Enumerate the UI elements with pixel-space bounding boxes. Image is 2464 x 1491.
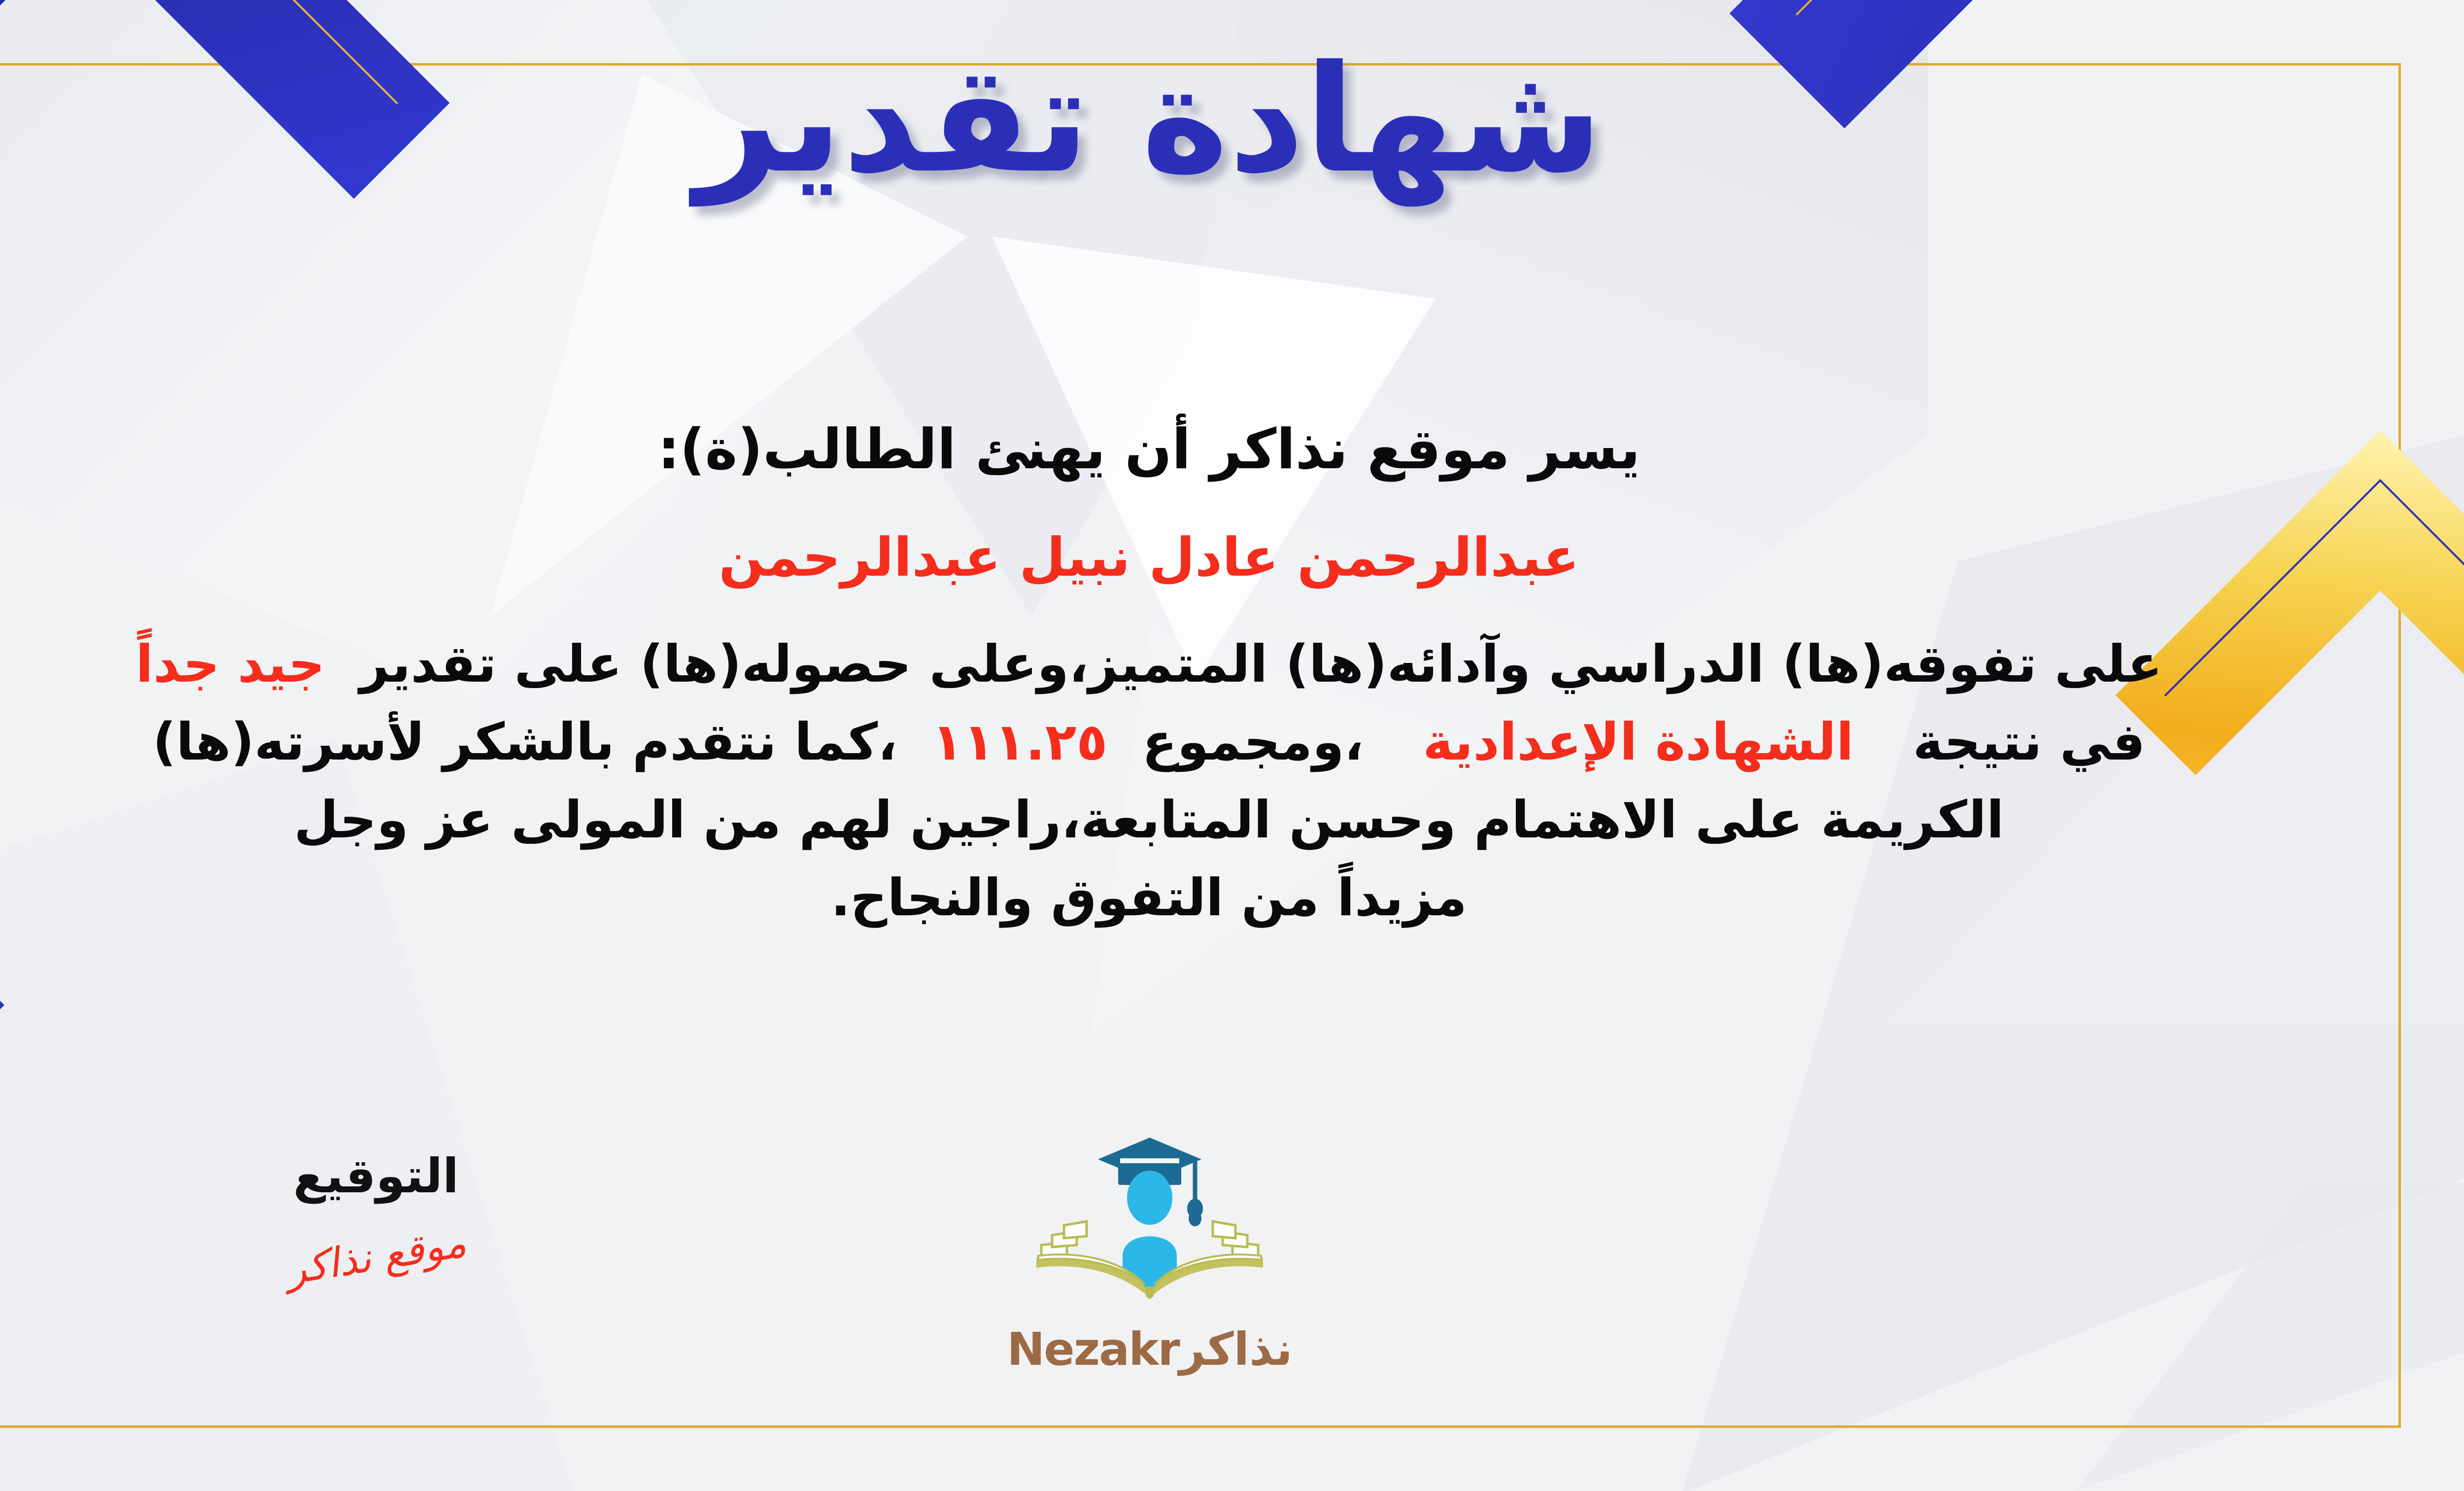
total-score: ١١١.٢٥ [932,712,1108,772]
signature-mark: موقع نذاكر [283,1219,469,1294]
logo-latin-name: Nezakr [1007,1323,1179,1376]
certificate-page: شهادة تقدير يسر موقع نذاكر أن يهنئ الطال… [0,0,2464,1491]
logo-arabic-name: نذاكر [1179,1323,1293,1376]
paragraph-line-1: على تفوقه(ها) الدراسي وآدائه(ها) المتميز… [0,625,2316,703]
student-name: عبدالرحمن عادل نبيل عبدالرحمن [0,519,2316,597]
certificate-content: شهادة تقدير يسر موقع نذاكر أن يهنئ الطال… [0,0,2464,1491]
paragraph-line-3: الكريمة على الاهتمام وحسن المتابعة،راجين… [0,781,2316,859]
logo-wordmark: Nezakrنذاكر [972,1323,1327,1376]
certificate-title: شهادة تقدير [0,30,2464,210]
nezakr-logo: Nezakrنذاكر [972,1129,1327,1376]
signature-block: التوقيع موقع نذاكر [208,1148,544,1280]
exam-name: الشهادة الإعدادية [1423,712,1854,772]
total-label: ،ومجموع [1142,712,1364,772]
paragraph-line-4: مزيداً من التفوق والنجاح. [0,859,2316,936]
paragraph-line-2: في نتيجةالشهادة الإعدادية،ومجموع١١١.٢٥،ك… [0,703,2316,781]
signature-label: التوقيع [208,1148,544,1204]
grade-value: جيد جداً [136,634,325,694]
intro-line: يسر موقع نذاكر أن يهنئ الطالب(ة): [0,409,2316,491]
result-label: في نتيجة [1913,712,2146,772]
achievement-text-part-1: على تفوقه(ها) الدراسي وآدائه(ها) المتميز… [360,634,2162,694]
certificate-body: يسر موقع نذاكر أن يهنئ الطالب(ة): عبدالر… [0,409,2316,936]
thanks-text: ،كما نتقدم بالشكر لأسرته(ها) [153,712,897,772]
logo-artwork [1022,1129,1278,1321]
achievement-paragraph: على تفوقه(ها) الدراسي وآدائه(ها) المتميز… [0,625,2316,936]
